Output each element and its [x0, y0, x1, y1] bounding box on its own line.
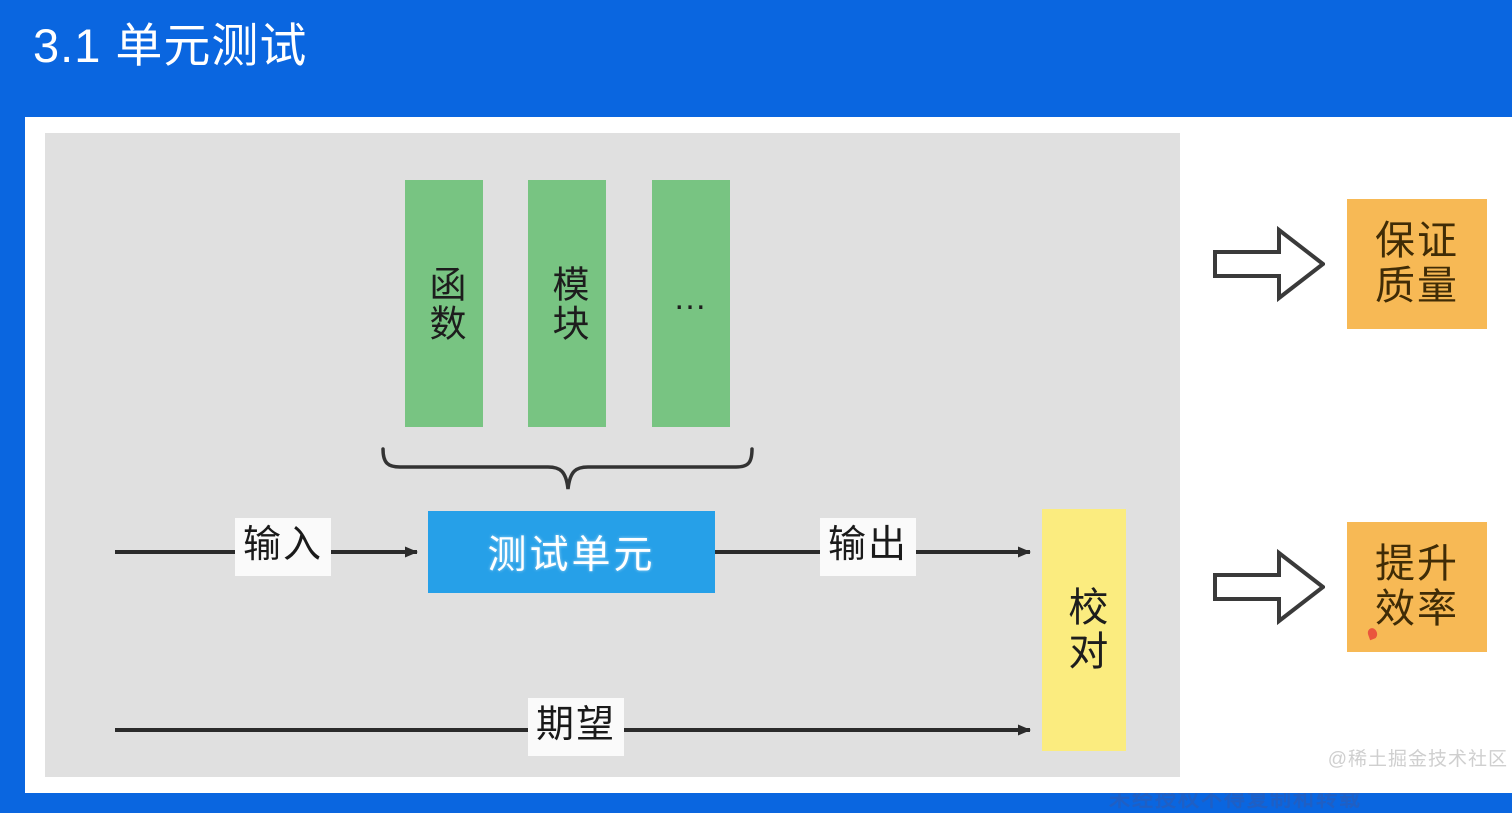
outcome-label-line2: 质量	[1375, 264, 1459, 309]
test-unit-label: 测试单元	[487, 524, 655, 580]
unit-box-label: 模块	[547, 265, 587, 343]
outcome-row-efficiency: 提升 效率	[1213, 522, 1487, 652]
outcome-box-quality: 保证 质量	[1347, 199, 1487, 329]
outcome-label-line1: 保证	[1375, 219, 1459, 264]
ellipsis-icon: …	[673, 281, 709, 315]
outcome-label-line2: 效率	[1375, 587, 1459, 632]
block-arrow-right-icon	[1213, 548, 1325, 626]
footer-text: 未经授权不得复制和转载	[1109, 793, 1362, 813]
flow-label-input: 输入	[235, 518, 331, 576]
unit-box-module: 模块	[528, 180, 606, 427]
flow-label-expect: 期望	[528, 698, 624, 756]
test-unit-box: 测试单元	[428, 511, 715, 593]
slide-card: 函数 模块 … 测试单元 校对 输入 输出 期望 保证	[25, 117, 1512, 793]
outcome-label: 保证 质量	[1375, 219, 1459, 309]
block-arrow-right-icon	[1213, 225, 1325, 303]
verify-label: 校对	[1062, 586, 1107, 674]
grouping-brace-icon	[380, 445, 755, 492]
watermark: @稀土掘金技术社区	[1328, 744, 1508, 771]
unit-box-function: 函数	[405, 180, 483, 427]
slide-header: 3.1 单元测试	[0, 0, 1512, 97]
verify-box: 校对	[1042, 509, 1126, 751]
outcome-label-line1: 提升	[1375, 542, 1459, 587]
outcome-row-quality: 保证 质量	[1213, 199, 1487, 329]
unit-box-label: 函数	[424, 265, 464, 343]
unit-box-ellipsis: …	[652, 180, 730, 427]
outcome-label: 提升 效率	[1375, 542, 1459, 632]
page-title: 3.1 单元测试	[33, 10, 307, 82]
footer-strip: 未经授权不得复制和转载	[0, 793, 1512, 813]
diagram-panel: 函数 模块 … 测试单元 校对 输入 输出 期望	[45, 133, 1180, 777]
flow-label-output: 输出	[820, 518, 916, 576]
